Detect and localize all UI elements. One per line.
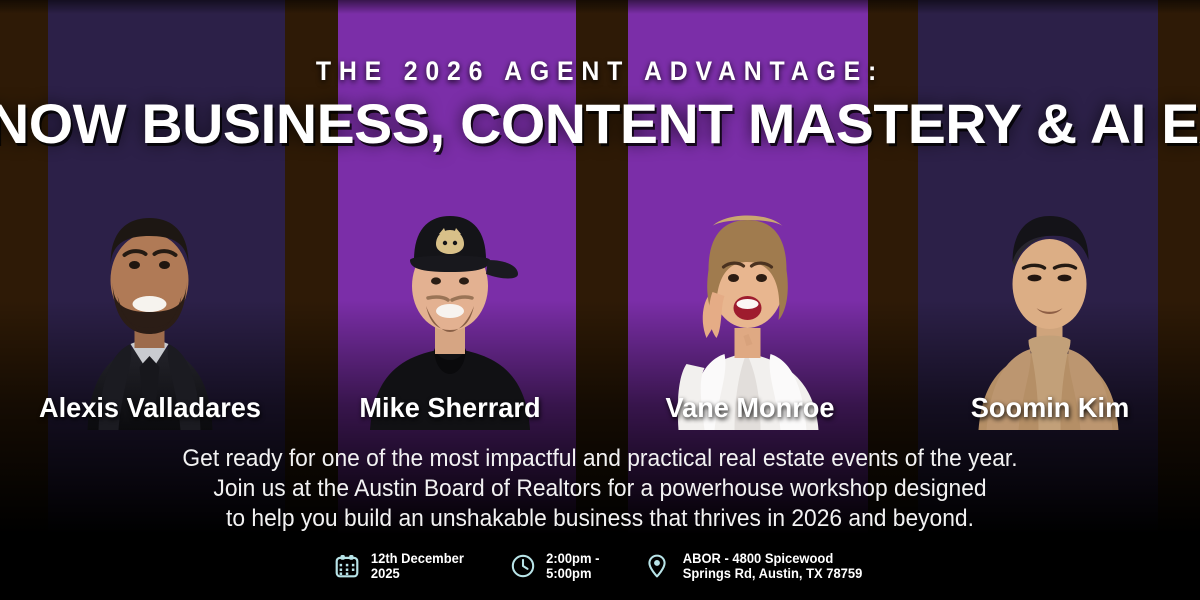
speaker-portrait-mike-sherrard (300, 160, 600, 430)
speaker-name: Alexis Valladares (5, 392, 296, 424)
event-date-line-2: 2025 (371, 566, 464, 581)
man-dark-suit-beard-portrait (43, 168, 258, 430)
speaker-portrait-row (0, 160, 1200, 430)
speaker-name-row: Alexis Valladares Mike Sherrard Vane Mon… (0, 392, 1200, 424)
page-title: NOW BUSINESS, CONTENT MASTERY & AI EXECU… (0, 96, 1200, 152)
map-pin-icon (644, 553, 670, 579)
event-time-line-1: 2:00pm - (546, 551, 599, 566)
event-date: 12th December 2025 (334, 551, 466, 581)
event-time-line-2: 5:00pm (546, 566, 599, 581)
event-poster: THE 2026 AGENT ADVANTAGE: NOW BUSINESS, … (0, 0, 1200, 600)
calendar-icon (334, 553, 360, 579)
event-location-line-1: ABOR - 4800 Spicewood (683, 551, 863, 566)
poster-headings: THE 2026 AGENT ADVANTAGE: NOW BUSINESS, … (0, 0, 1200, 152)
speaker-name: Soomin Kim (905, 392, 1196, 424)
event-time-text: 2:00pm - 5:00pm (546, 551, 599, 581)
description-line-1: Get ready for one of the most impactful … (30, 444, 1170, 474)
speaker-portrait-alexis-valladares (0, 160, 300, 430)
man-black-cap-tshirt-portrait (340, 168, 560, 430)
man-tan-blazer-turtleneck-portrait (943, 168, 1158, 430)
speaker-portrait-soomin-kim (900, 160, 1200, 430)
event-time: 2:00pm - 5:00pm (510, 551, 601, 581)
event-date-text: 12th December 2025 (371, 551, 464, 581)
speaker-name: Mike Sherrard (305, 392, 596, 424)
speaker-portrait-vane-monroe (600, 160, 900, 430)
description-line-3: to help you build an unshakable business… (30, 504, 1170, 534)
description-line-2: Join us at the Austin Board of Realtors … (30, 474, 1170, 504)
speaker-name: Vane Monroe (605, 392, 896, 424)
event-location: ABOR - 4800 Spicewood Springs Rd, Austin… (644, 551, 866, 581)
event-location-line-2: Springs Rd, Austin, TX 78759 (683, 566, 863, 581)
kicker-text: THE 2026 AGENT ADVANTAGE: (48, 56, 1152, 87)
clock-icon (510, 553, 536, 579)
event-date-line-1: 12th December (371, 551, 464, 566)
woman-white-blazer-portrait (643, 168, 858, 430)
event-details-bar: 12th December 2025 2:00pm - 5:00pm ABOR … (0, 551, 1200, 581)
event-description: Get ready for one of the most impactful … (30, 444, 1170, 534)
event-location-text: ABOR - 4800 Spicewood Springs Rd, Austin… (683, 551, 863, 581)
